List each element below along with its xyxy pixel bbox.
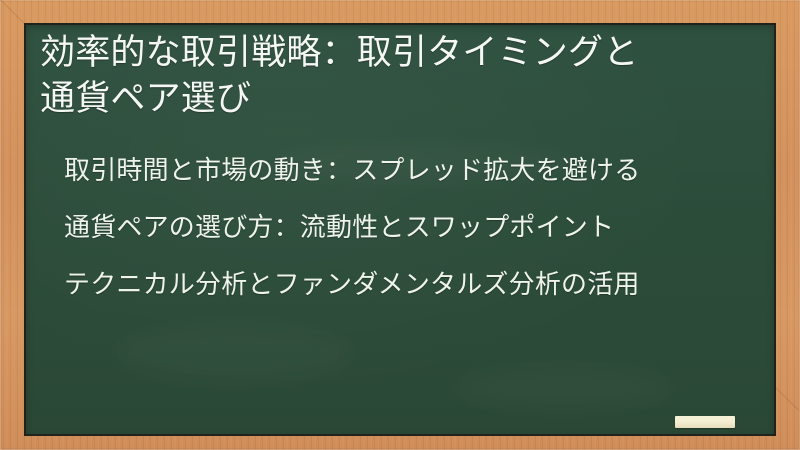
bullet-item-1: 取引時間と市場の動き：スプレッド拡大を避ける <box>64 155 758 186</box>
bullet-item-3: テクニカル分析とファンダメンタルズ分析の活用 <box>64 269 758 300</box>
slide-title: 効率的な取引戦略：取引タイミングと 通貨ペア選び <box>34 30 758 121</box>
chalk-smudge <box>454 363 674 411</box>
bullet-item-2: 通貨ペアの選び方：流動性とスワップポイント <box>64 212 758 243</box>
chalkboard-slide: 効率的な取引戦略：取引タイミングと 通貨ペア選び 取引時間と市場の動き：スプレッ… <box>0 0 800 450</box>
chalk-stick <box>675 416 735 428</box>
chalkboard-surface: 効率的な取引戦略：取引タイミングと 通貨ペア選び 取引時間と市場の動き：スプレッ… <box>24 23 776 436</box>
slide-title-line-1: 効率的な取引戦略：取引タイミングと <box>40 33 638 72</box>
slide-bullet-list: 取引時間と市場の動き：スプレッド拡大を避ける 通貨ペアの選び方：流動性とスワップ… <box>34 155 758 301</box>
chalk-smudge <box>114 323 354 383</box>
slide-title-line-2: 通貨ペア選び <box>40 79 251 118</box>
board-content: 効率的な取引戦略：取引タイミングと 通貨ペア選び 取引時間と市場の動き：スプレッ… <box>24 23 776 301</box>
